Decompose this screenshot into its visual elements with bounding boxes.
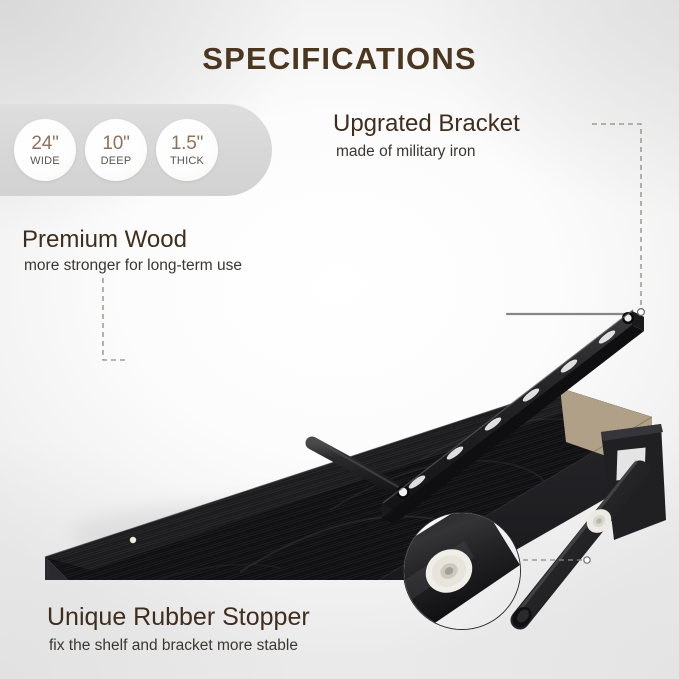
callout-rubber-subtitle: fix the shelf and bracket more stable: [49, 637, 298, 655]
callout-rubber-title: Unique Rubber Stopper: [47, 603, 310, 632]
badge-depth-label: DEEP: [101, 156, 132, 167]
callout-wood-title: Premium Wood: [22, 226, 187, 254]
page-title: SPECIFICATIONS: [0, 41, 679, 77]
badge-thickness: 1.5" THICK: [156, 119, 218, 181]
spec-badge-group: 24" WIDE 10" DEEP 1.5" THICK: [14, 119, 218, 181]
badge-thickness-label: THICK: [170, 156, 204, 167]
badge-width-label: WIDE: [30, 156, 60, 167]
badge-width: 24" WIDE: [14, 119, 76, 181]
specifications-infographic: 24" WIDE 10" DEEP 1.5" THICK SPECIFICATI…: [0, 0, 679, 679]
callout-bracket-subtitle: made of military iron: [336, 143, 476, 161]
leader-line-bracket: [592, 124, 641, 309]
leader-endpoint-rubber: [584, 557, 590, 563]
badge-depth-value: 10": [102, 134, 129, 153]
callout-bracket-title: Upgrated Bracket: [333, 110, 520, 138]
leader-lines: [0, 0, 679, 679]
badge-thickness-value: 1.5": [171, 134, 203, 153]
callout-wood-subtitle: more stronger for long-term use: [24, 257, 242, 275]
leader-line-wood: [103, 278, 128, 360]
badge-width-value: 24": [31, 134, 58, 153]
badge-depth: 10" DEEP: [85, 119, 147, 181]
leader-endpoint-bracket: [638, 309, 645, 316]
